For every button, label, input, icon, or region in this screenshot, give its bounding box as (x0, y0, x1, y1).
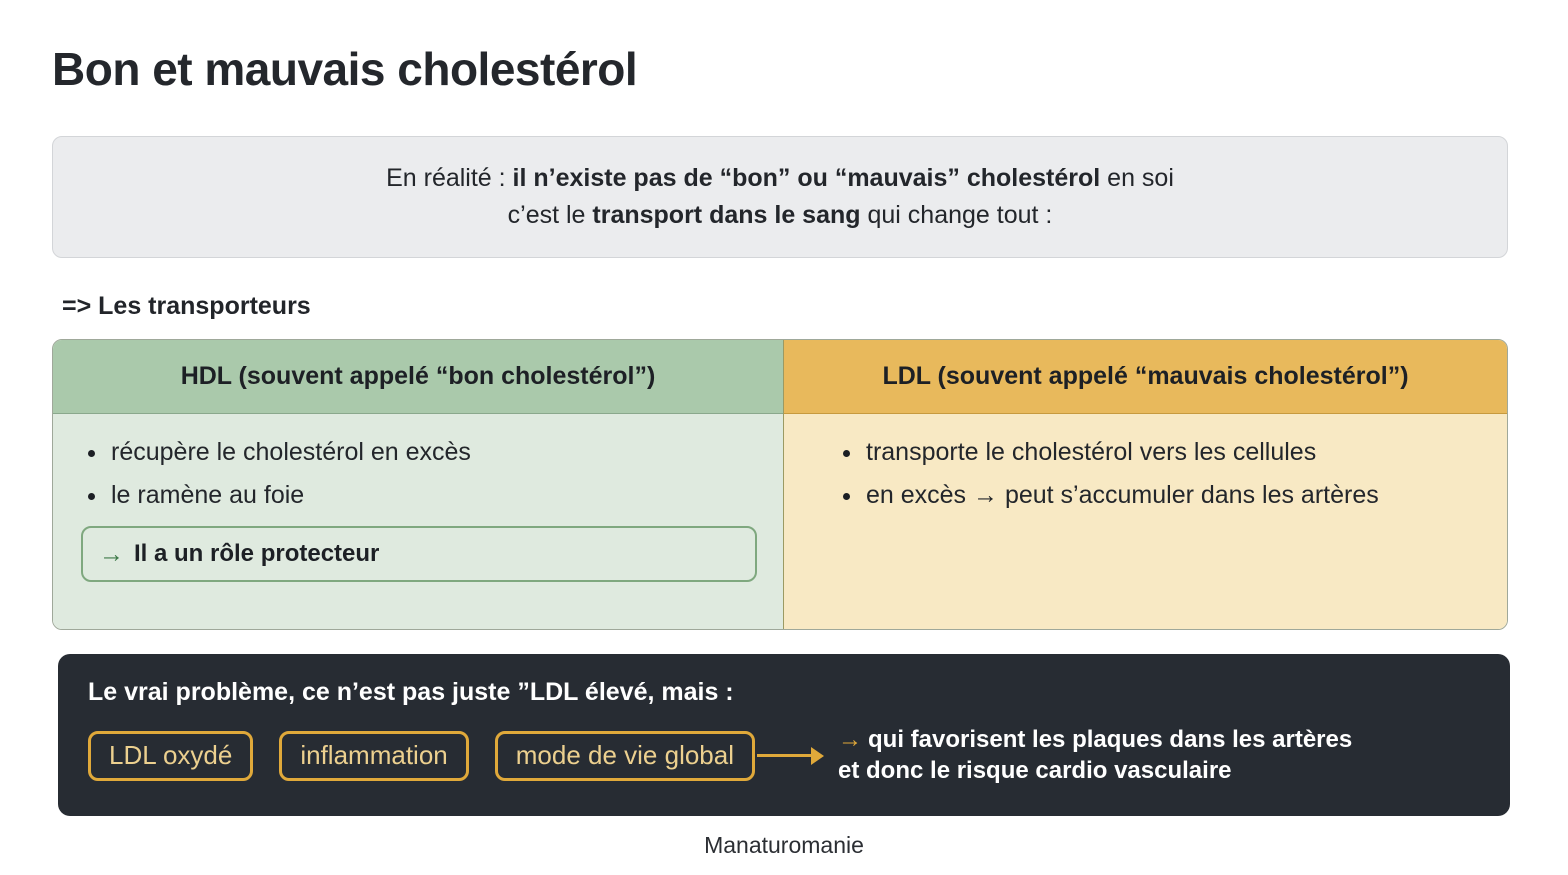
factor-chip-ldl-oxyde: LDL oxydé (88, 731, 253, 781)
factor-chip-group: LDL oxydé inflammation mode de vie globa… (88, 731, 755, 781)
arrow-right-icon: → (99, 542, 124, 567)
table-column-ldl: LDL (souvent appelé “mauvais cholestérol… (784, 340, 1507, 629)
arrow-right-icon: → (838, 726, 862, 753)
intro-line-1: En réalité : il n’existe pas de “bon” ou… (386, 163, 1174, 195)
comparison-table: HDL (souvent appelé “bon cholestérol”) r… (52, 339, 1508, 630)
list-item: en excès → peut s’accumuler dans les art… (836, 483, 1479, 508)
table-header-hdl: HDL (souvent appelé “bon cholestérol”) (53, 340, 783, 414)
connector-line (757, 754, 811, 757)
hdl-protective-text: Il a un rôle protecteur (134, 540, 379, 568)
table-column-hdl: HDL (souvent appelé “bon cholestérol”) r… (53, 340, 784, 629)
panel-outcome-line-1: →qui favorisent les plaques dans les art… (838, 725, 1352, 756)
intro-line-1-prefix: En réalité : (386, 164, 512, 192)
hdl-protective-callout: → Il a un rôle protecteur (81, 526, 757, 582)
factor-chip-mode-de-vie: mode de vie global (495, 731, 755, 781)
table-body-ldl: transporte le cholestérol vers les cellu… (784, 414, 1507, 629)
page-title: Bon et mauvais cholestérol (52, 42, 637, 96)
intro-line-2: c’est le transport dans le sang qui chan… (508, 200, 1053, 232)
section-label-transporteurs: => Les transporteurs (62, 292, 311, 321)
intro-line-1-bold: il n’existe pas de “bon” ou “mauvais” ch… (513, 164, 1101, 192)
intro-line-1-suffix: en soi (1100, 164, 1174, 192)
arrow-connector-icon (757, 747, 824, 765)
list-item: le ramène au foie (81, 483, 755, 508)
footer-attribution: Manaturomanie (0, 832, 1568, 859)
panel-factors-row: LDL oxydé inflammation mode de vie globa… (88, 725, 1510, 786)
panel-outcome-text-1: qui favorisent les plaques dans les artè… (868, 726, 1352, 753)
list-item: récupère le cholestérol en excès (81, 440, 755, 465)
table-header-ldl: LDL (souvent appelé “mauvais cholestérol… (784, 340, 1507, 414)
ldl-bullet-list: transporte le cholestérol vers les cellu… (836, 440, 1479, 508)
connector-arrowhead (811, 747, 824, 765)
intro-line-2-suffix: qui change tout : (861, 201, 1053, 229)
hdl-bullet-list: récupère le cholestérol en excès le ramè… (81, 440, 755, 508)
key-problem-panel: Le vrai problème, ce n’est pas juste ”LD… (58, 654, 1510, 816)
infographic-page: Bon et mauvais cholestérol En réalité : … (0, 0, 1568, 875)
table-body-hdl: récupère le cholestérol en excès le ramè… (53, 414, 783, 629)
panel-outcome-line-2: et donc le risque cardio vasculaire (838, 756, 1352, 787)
intro-line-2-prefix: c’est le (508, 201, 593, 229)
intro-line-2-bold: transport dans le sang (592, 201, 860, 229)
intro-callout: En réalité : il n’existe pas de “bon” ou… (52, 136, 1508, 258)
panel-outcome: →qui favorisent les plaques dans les art… (838, 725, 1352, 786)
panel-headline: Le vrai problème, ce n’est pas juste ”LD… (88, 678, 1510, 707)
factor-chip-inflammation: inflammation (279, 731, 468, 781)
list-item: transporte le cholestérol vers les cellu… (836, 440, 1479, 465)
